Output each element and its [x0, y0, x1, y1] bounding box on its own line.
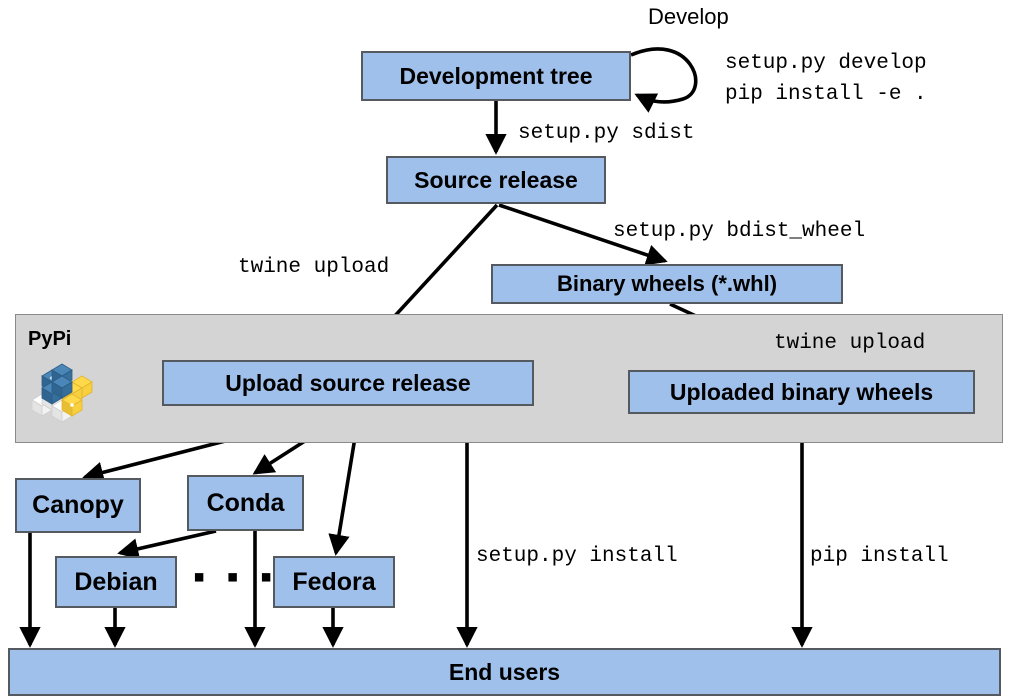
ellipsis-more-distros: ▪ ▪ ▪	[193, 560, 278, 594]
node-uploaded-binary-wheels[interactable]: Uploaded binary wheels	[628, 370, 975, 414]
edge-develop-self-loop	[631, 49, 696, 102]
node-end-users[interactable]: End users	[8, 648, 1001, 696]
edge-label-develop: Develop	[648, 4, 729, 30]
node-conda[interactable]: Conda	[187, 475, 304, 531]
edge-label-pip-install: pip install	[810, 545, 949, 568]
edge-label-setup-bdist-wheel: setup.py bdist_wheel	[613, 220, 865, 243]
edge-label-setup-install: setup.py install	[476, 545, 678, 568]
edge-label-twine-upload-wheels: twine upload	[774, 332, 925, 355]
node-upload-source-release[interactable]: Upload source release	[162, 360, 534, 406]
node-debian[interactable]: Debian	[55, 556, 177, 608]
node-canopy[interactable]: Canopy	[15, 478, 141, 533]
node-development-tree[interactable]: Development tree	[361, 51, 631, 101]
pypi-region-label: PyPi	[28, 328, 71, 351]
edge-label-pip-install-editable: pip install -e .	[725, 83, 927, 106]
node-fedora[interactable]: Fedora	[273, 556, 395, 608]
edge-label-twine-upload-source: twine upload	[238, 256, 389, 279]
edge-label-setup-sdist: setup.py sdist	[518, 122, 694, 145]
edge-conda-to-debian	[120, 531, 216, 553]
pypi-logo-icon	[30, 360, 94, 427]
node-binary-wheels[interactable]: Binary wheels (*.whl)	[491, 264, 843, 304]
node-source-release[interactable]: Source release	[386, 156, 606, 204]
edge-label-setup-develop: setup.py develop	[725, 52, 927, 75]
diagram-canvas: PyPi	[0, 0, 1009, 698]
